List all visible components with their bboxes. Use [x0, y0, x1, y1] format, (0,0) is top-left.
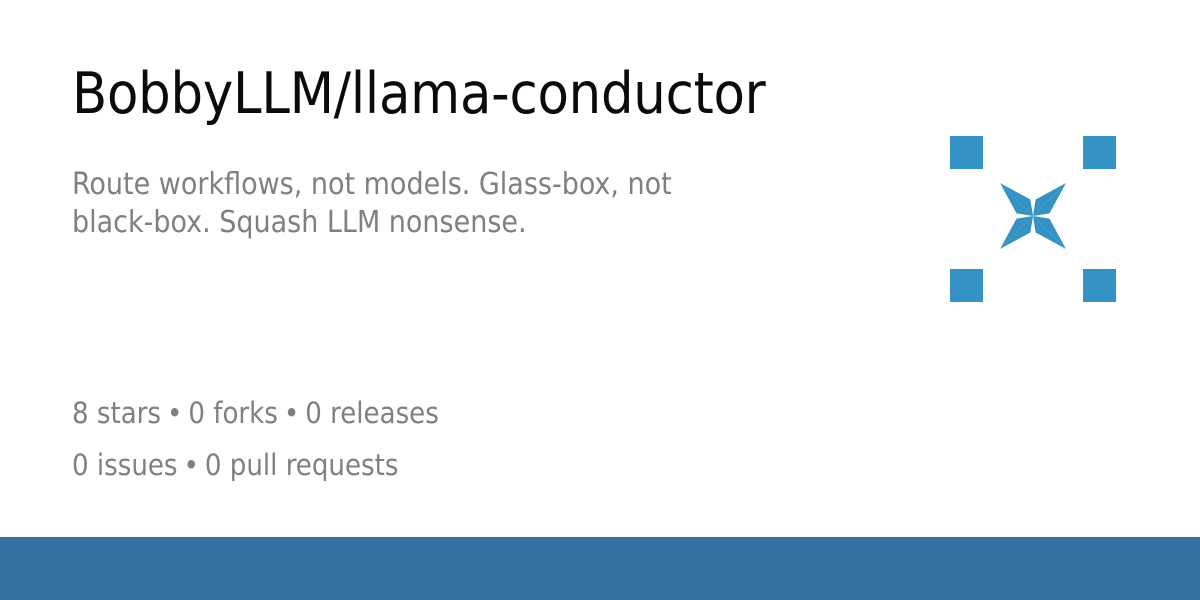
- repo-stats-line-2: 0 issues•0 pull requests: [72, 439, 439, 491]
- stat-releases: 0 releases: [305, 396, 439, 430]
- stat-forks: 0 forks: [188, 396, 277, 430]
- repo-description-line-1: Route workflows, not models. Glass-box, …: [72, 166, 832, 204]
- repository-avatar: [950, 136, 1116, 302]
- repo-stats-line-1: 8 stars•0 forks•0 releases: [72, 387, 439, 439]
- corner-square-icon: [950, 136, 983, 169]
- stat-separator-icon: •: [278, 387, 305, 439]
- bottom-accent-bar: [0, 537, 1200, 600]
- stat-stars: 8 stars: [72, 396, 161, 430]
- corner-square-icon: [1083, 136, 1116, 169]
- repo-stats: 8 stars•0 forks•0 releases 0 issues•0 pu…: [72, 387, 439, 491]
- repo-social-preview-card: BobbyLLM/llama-conductor Route workflows…: [0, 0, 1200, 600]
- stat-separator-icon: •: [161, 387, 188, 439]
- corner-square-icon: [950, 269, 983, 302]
- repo-description-line-2: black-box. Squash LLM nonsense.: [72, 204, 832, 242]
- corner-square-icon: [1083, 269, 1116, 302]
- stat-pull-requests: 0 pull requests: [205, 448, 398, 482]
- stat-issues: 0 issues: [72, 448, 178, 482]
- stat-separator-icon: •: [178, 439, 205, 491]
- repo-description: Route workflows, not models. Glass-box, …: [72, 166, 832, 242]
- page-title: BobbyLLM/llama-conductor: [72, 62, 766, 126]
- four-point-star-icon: [1000, 183, 1066, 249]
